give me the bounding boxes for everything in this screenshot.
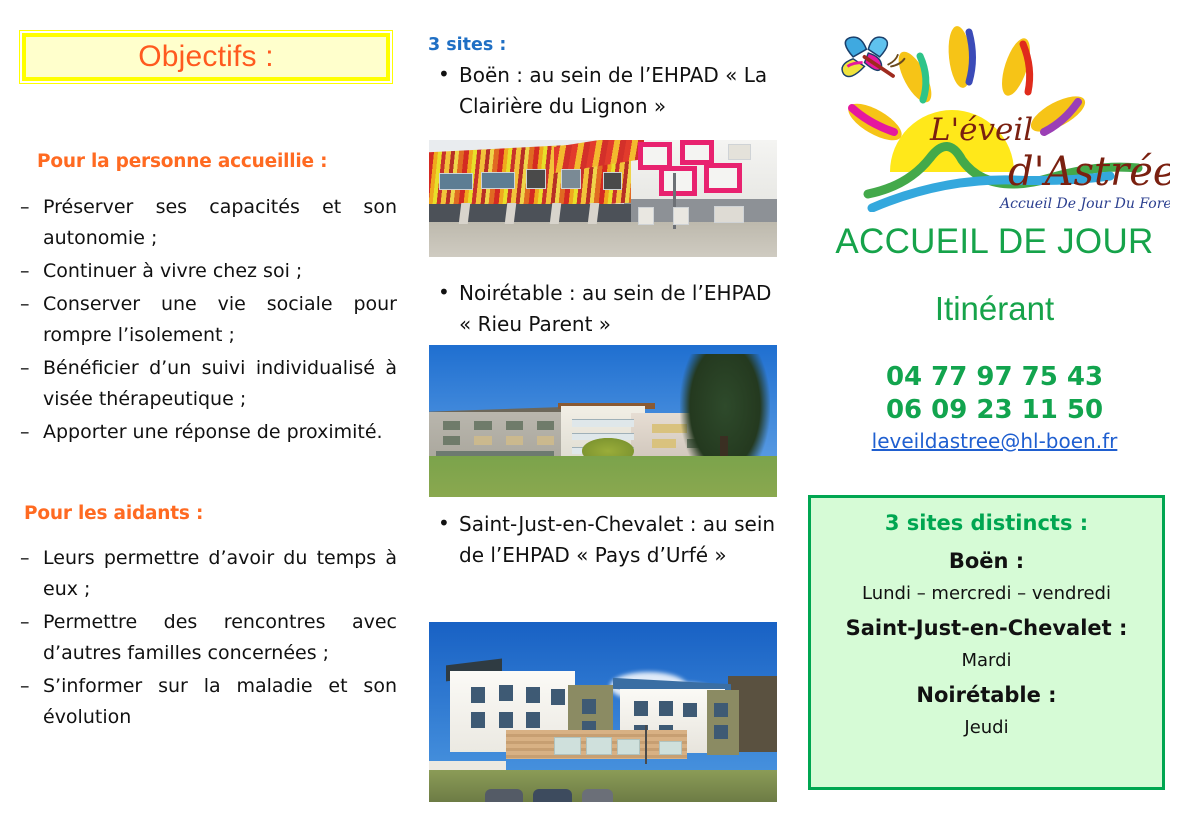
heading-3-sites: 3 sites : (428, 35, 506, 55)
list-item: Conserver une vie sociale pour rompre l’… (15, 289, 397, 351)
schedule-days-noiretable: Jeudi (811, 717, 1162, 738)
phone-number-secondary: 06 09 23 11 50 (796, 395, 1193, 425)
objectifs-title: Objectifs : (138, 42, 274, 72)
page-title: ACCUEIL DE JOUR (796, 222, 1193, 262)
site-item-saint-just-en-chevalet: Saint-Just-en-Chevalet : au sein de l’EH… (432, 509, 779, 571)
list-item: Continuer à vivre chez soi ; (15, 256, 397, 287)
list-item: Bénéficier d’un suivi individualisé à vi… (15, 353, 397, 415)
schedule-days-saint-just-en-chevalet: Mardi (811, 650, 1162, 671)
list-item: Permettre des rencontres avec d’autres f… (15, 607, 397, 669)
schedule-box: 3 sites distincts : Boën : Lundi – mercr… (808, 495, 1165, 790)
site-item-noiretable: Noirétable : au sein de l’EHPAD « Rieu P… (432, 278, 779, 340)
site-item-boen: Boën : au sein de l’EHPAD « La Clairière… (432, 60, 779, 122)
page-subtitle: Itinérant (796, 290, 1193, 328)
butterfly-icon (842, 37, 904, 76)
objectives-list-aidants: Leurs permettre d’avoir du temps à eux ;… (15, 543, 397, 735)
schedule-site-noiretable: Noirétable : (811, 683, 1162, 707)
schedule-days-boen: Lundi – mercredi – vendredi (811, 583, 1162, 604)
schedule-site-saint-just-en-chevalet: Saint-Just-en-Chevalet : (811, 616, 1162, 640)
heading-pour-la-personne-accueillie: Pour la personne accueillie : (37, 151, 327, 172)
leveil-dastree-logo: L'éveil d'Astrée Accueil De Jour Du Fore… (820, 22, 1170, 212)
email-link[interactable]: leveildastree@hl-boen.fr (796, 429, 1193, 453)
objectives-list-personne: Préserver ses capacités et son autonomie… (15, 192, 397, 450)
list-item: S’informer sur la maladie et son évoluti… (15, 671, 397, 733)
list-item: Apporter une réponse de proximité. (15, 417, 397, 448)
schedule-site-boen: Boën : (811, 549, 1162, 573)
heading-pour-les-aidants: Pour les aidants : (24, 503, 203, 524)
ehpad-noiretable-photo (429, 345, 777, 497)
list-item: Préserver ses capacités et son autonomie… (15, 192, 397, 254)
ehpad-boen-photo (429, 140, 777, 257)
phone-number-primary: 04 77 97 75 43 (796, 362, 1193, 392)
objectifs-banner: Objectifs : (22, 33, 390, 81)
logo-tagline: Accueil De Jour Du Forez (998, 196, 1170, 212)
list-item: Leurs permettre d’avoir du temps à eux ; (15, 543, 397, 605)
schedule-title: 3 sites distincts : (811, 511, 1162, 535)
logo-main-text: L'éveil (929, 112, 1033, 148)
ehpad-saint-just-photo (429, 622, 777, 802)
logo-second-text: d'Astrée (1008, 149, 1170, 195)
